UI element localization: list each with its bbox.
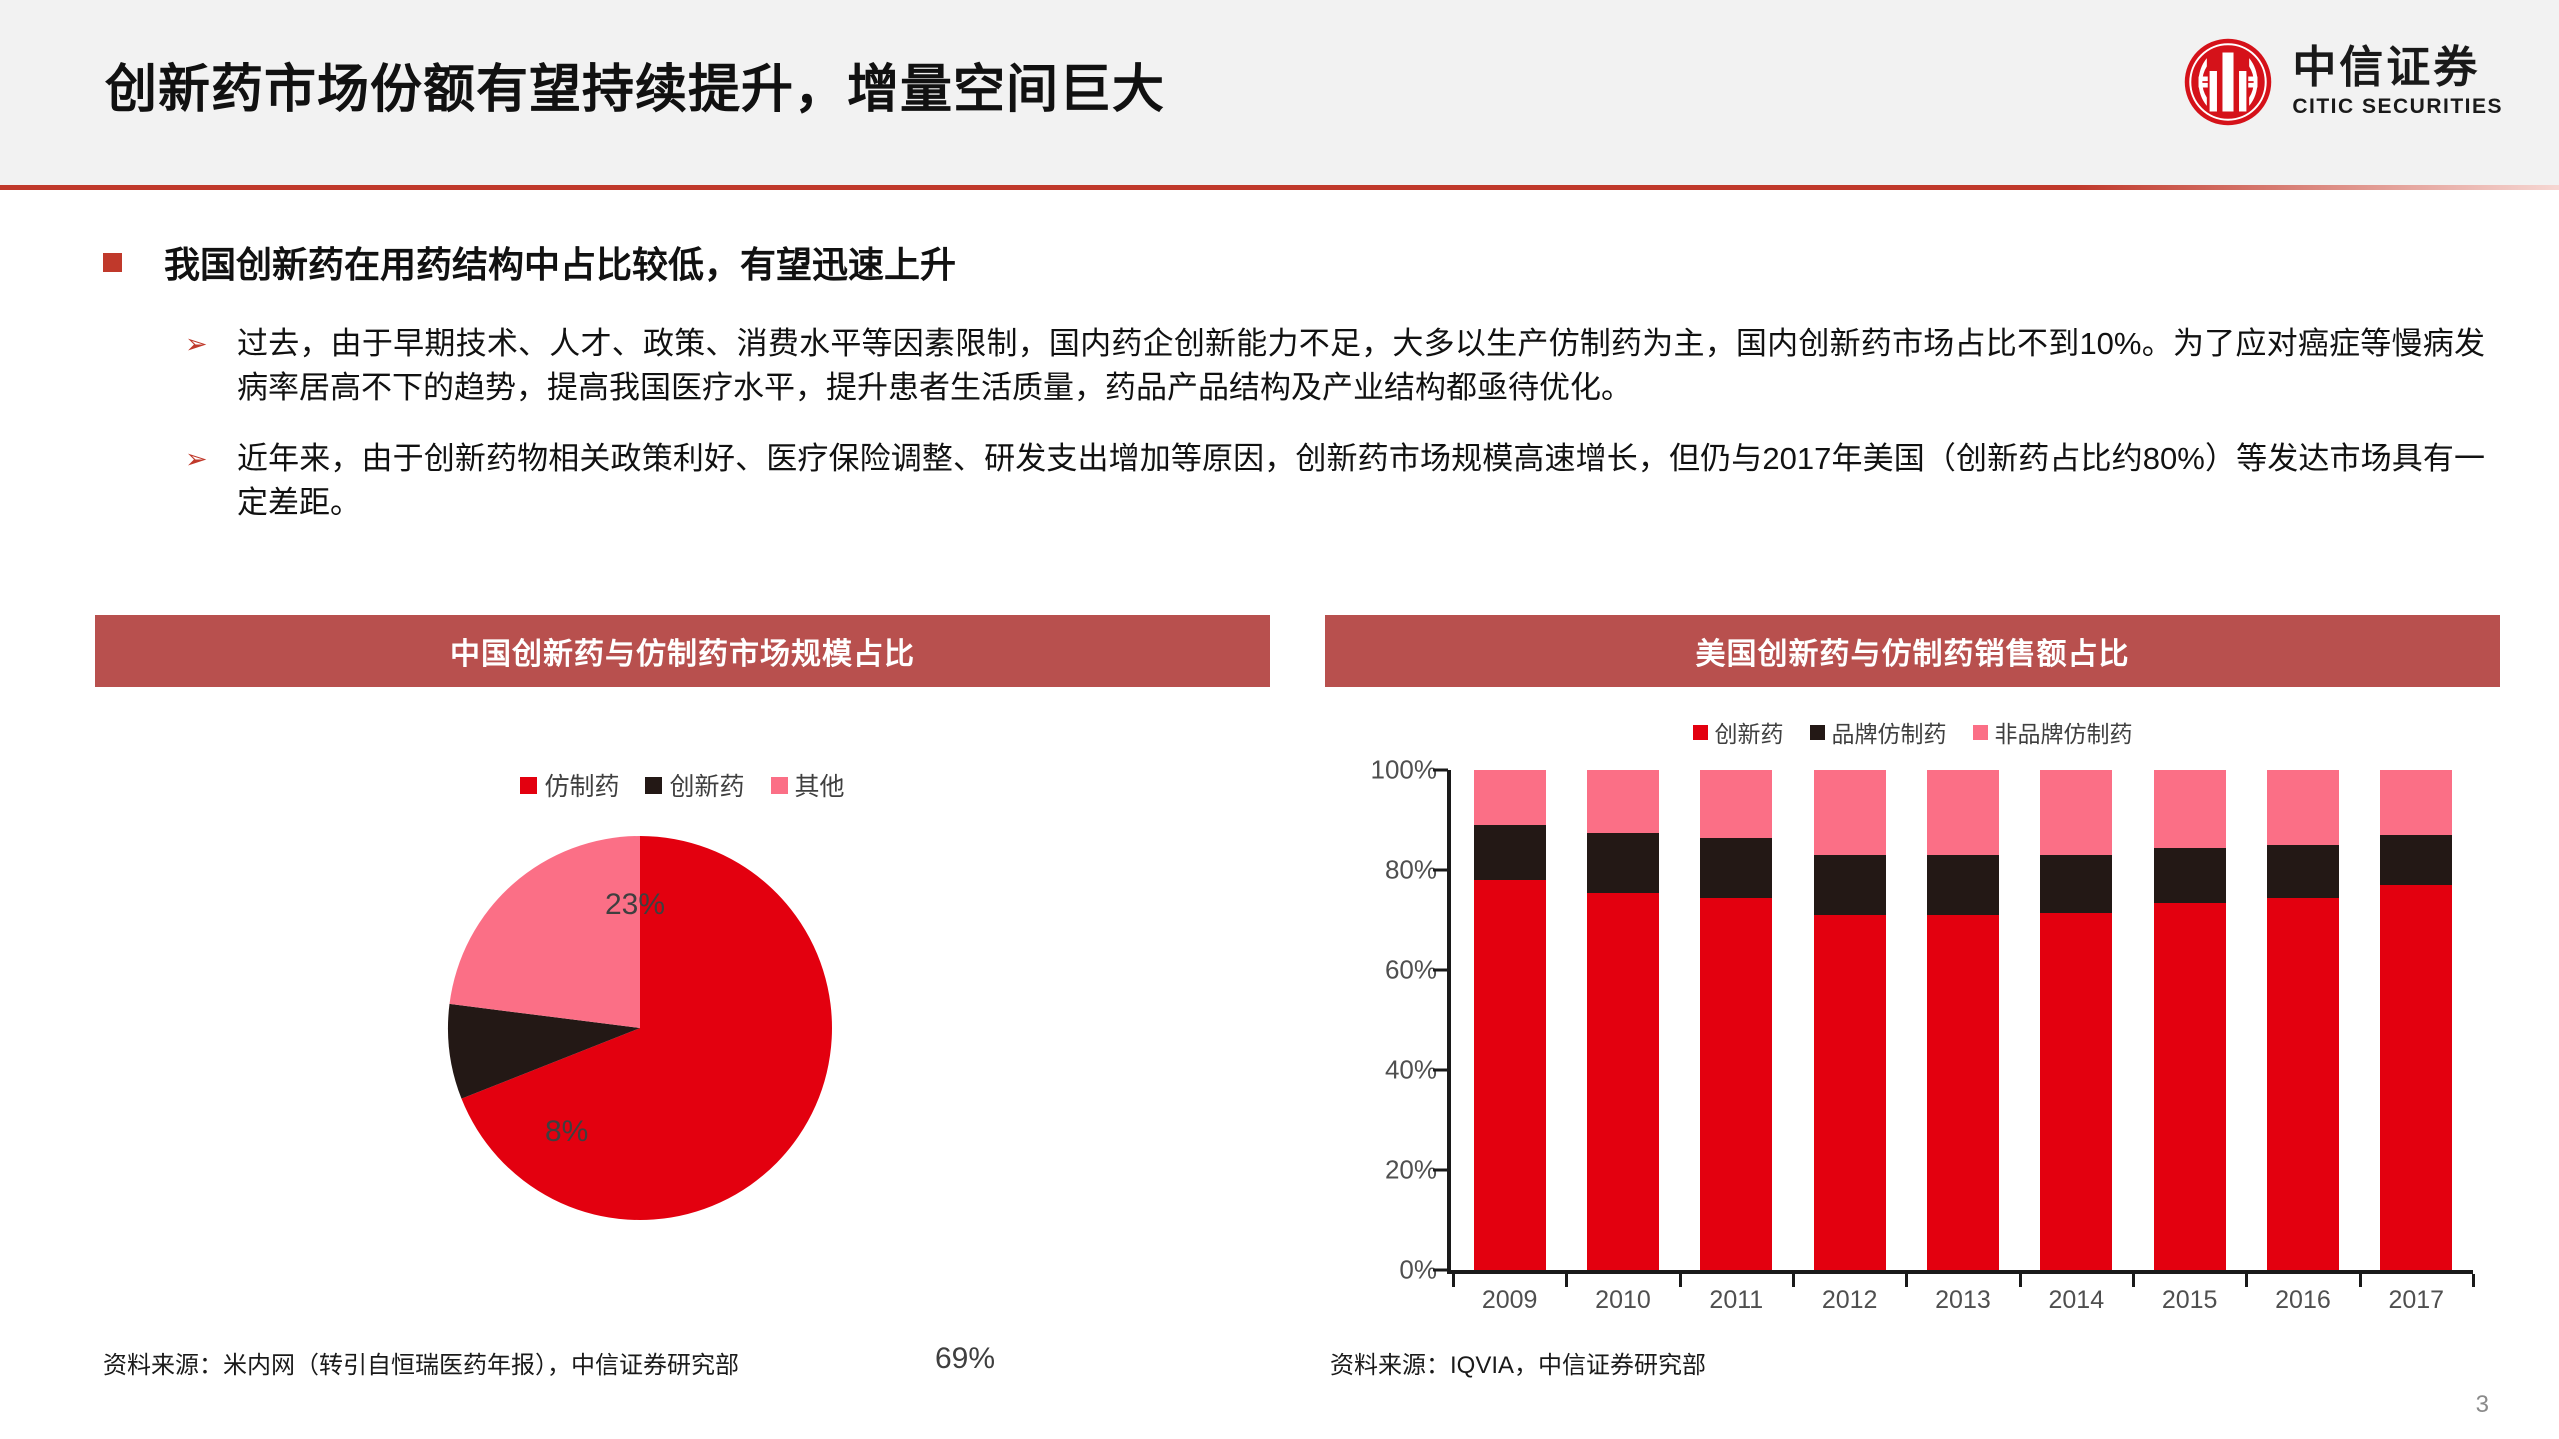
pie-legend-item[interactable]: 其他 xyxy=(771,767,845,803)
bar-segment-创新药[interactable] xyxy=(2154,903,2226,1271)
left-chart-source: 资料来源：米内网（转引自恒瑞医药年报），中信证券研究部 xyxy=(103,1345,739,1380)
bar-chart-plot xyxy=(1453,770,2473,1270)
bar-segment-非品牌仿制药[interactable] xyxy=(2267,770,2339,845)
y-axis-tick-label: 0% xyxy=(1399,1255,1437,1286)
page-number: 3 xyxy=(2476,1391,2489,1419)
legend-color-swatch-icon xyxy=(1693,725,1708,740)
bar-column-2016[interactable] xyxy=(2267,770,2339,1270)
pie-value-label-other: 23% xyxy=(605,888,665,922)
legend-color-swatch-icon xyxy=(771,777,788,794)
bar-segment-创新药[interactable] xyxy=(1587,893,1659,1271)
logo-chinese-name: 中信证券 xyxy=(2292,45,2480,91)
sub-bullet-2: ➢ 近年来，由于创新药物相关政策利好、医疗保险调整、研发支出增加等原因，创新药市… xyxy=(185,437,2485,525)
bar-column-2013[interactable] xyxy=(1927,770,1999,1270)
bar-column-2015[interactable] xyxy=(2154,770,2226,1270)
y-axis-tick-label: 80% xyxy=(1385,855,1437,886)
sub-bullet-1-text: 过去，由于早期技术、人才、政策、消费水平等因素限制，国内药企创新能力不足，大多以… xyxy=(237,322,2485,410)
bar-segment-非品牌仿制药[interactable] xyxy=(2154,770,2226,848)
x-axis-tick-label: 2015 xyxy=(2154,1286,2226,1315)
pie-slice-其他[interactable] xyxy=(450,836,640,1028)
bar-column-2017[interactable] xyxy=(2380,770,2452,1270)
legend-color-swatch-icon xyxy=(520,777,537,794)
y-axis-tick-label: 20% xyxy=(1385,1155,1437,1186)
pie-value-label-generic: 69% xyxy=(935,1342,995,1376)
pie-chart-area: 23% 8% 69% xyxy=(95,810,1270,1330)
y-axis-tick-mark xyxy=(1433,869,1448,872)
y-axis-tick-label: 60% xyxy=(1385,955,1437,986)
bar-segment-品牌仿制药[interactable] xyxy=(1927,855,1999,915)
bar-segment-非品牌仿制药[interactable] xyxy=(2380,770,2452,835)
bar-segment-品牌仿制药[interactable] xyxy=(1474,825,1546,880)
right-chart-title: 美国创新药与仿制药销售额占比 xyxy=(1325,615,2500,687)
bar-segment-创新药[interactable] xyxy=(2380,885,2452,1270)
slide: 创新药市场份额有望持续提升，增量空间巨大 中信证券 CITIC SECURITI… xyxy=(0,0,2559,1439)
bar-segment-创新药[interactable] xyxy=(1814,915,1886,1270)
bar-segment-非品牌仿制药[interactable] xyxy=(1700,770,1772,838)
x-axis-tick-label: 2017 xyxy=(2380,1286,2452,1315)
square-bullet-icon xyxy=(103,253,122,272)
bar-segment-创新药[interactable] xyxy=(2267,898,2339,1271)
bar-column-2014[interactable] xyxy=(2040,770,2112,1270)
bar-chart-legend: 创新药品牌仿制药非品牌仿制药 xyxy=(1325,715,2500,749)
y-axis-tick-mark xyxy=(1433,1169,1448,1172)
bar-segment-品牌仿制药[interactable] xyxy=(2380,835,2452,885)
y-axis-tick-label: 40% xyxy=(1385,1055,1437,1086)
bar-column-2010[interactable] xyxy=(1587,770,1659,1270)
y-axis-tick-mark xyxy=(1433,1069,1448,1072)
x-axis-tick-label: 2009 xyxy=(1474,1286,1546,1315)
bar-segment-品牌仿制药[interactable] xyxy=(1700,838,1772,898)
right-chart-source: 资料来源：IQVIA，中信证券研究部 xyxy=(1330,1345,1706,1380)
logo-english-name: CITIC SECURITIES xyxy=(2292,95,2503,119)
y-axis-tick-mark xyxy=(1433,769,1448,772)
bar-segment-创新药[interactable] xyxy=(1927,915,1999,1270)
arrow-bullet-icon: ➢ xyxy=(185,446,211,525)
legend-color-swatch-icon xyxy=(645,777,662,794)
bar-chart-x-axis-labels: 200920102011201220132014201520162017 xyxy=(1453,1286,2473,1315)
bar-segment-非品牌仿制药[interactable] xyxy=(1814,770,1886,855)
x-axis-tick-label: 2016 xyxy=(2267,1286,2339,1315)
bar-segment-品牌仿制药[interactable] xyxy=(1814,855,1886,915)
legend-color-swatch-icon xyxy=(1973,725,1988,740)
slide-header: 创新药市场份额有望持续提升，增量空间巨大 中信证券 CITIC SECURITI… xyxy=(0,0,2559,185)
bar-segment-品牌仿制药[interactable] xyxy=(2040,855,2112,913)
x-axis-tick-label: 2014 xyxy=(2040,1286,2112,1315)
bar-segment-非品牌仿制药[interactable] xyxy=(1927,770,1999,855)
left-chart-panel: 中国创新药与仿制药市场规模占比 仿制药创新药其他 23% 8% 69% xyxy=(95,615,1270,687)
x-axis-line xyxy=(1447,1270,2473,1274)
sub-bullet-2-text: 近年来，由于创新药物相关政策利好、医疗保险调整、研发支出增加等原因，创新药市场规… xyxy=(237,437,2485,525)
sub-bullet-1: ➢ 过去，由于早期技术、人才、政策、消费水平等因素限制，国内药企创新能力不足，大… xyxy=(185,322,2485,410)
bar-legend-item[interactable]: 创新药 xyxy=(1693,715,1784,749)
bar-column-2011[interactable] xyxy=(1700,770,1772,1270)
bar-segment-品牌仿制药[interactable] xyxy=(2154,848,2226,903)
bar-segment-品牌仿制药[interactable] xyxy=(2267,845,2339,898)
y-axis-line xyxy=(1447,770,1451,1270)
legend-label: 非品牌仿制药 xyxy=(1995,715,2133,749)
bar-chart-area: 0%20%40%60%80%100% 200920102011201220132… xyxy=(1325,770,2500,1430)
bar-segment-品牌仿制药[interactable] xyxy=(1587,833,1659,893)
legend-label: 品牌仿制药 xyxy=(1832,715,1947,749)
main-bullet-text: 我国创新药在用药结构中占比较低，有望迅速上升 xyxy=(164,236,956,288)
legend-color-swatch-icon xyxy=(1810,725,1825,740)
header-divider-fade xyxy=(2075,185,2559,190)
left-chart-title: 中国创新药与仿制药市场规模占比 xyxy=(95,615,1270,687)
right-chart-panel: 美国创新药与仿制药销售额占比 创新药品牌仿制药非品牌仿制药 0%20%40%60… xyxy=(1325,615,2500,687)
x-axis-tick-label: 2013 xyxy=(1927,1286,1999,1315)
x-axis-tick-label: 2011 xyxy=(1700,1286,1772,1315)
main-bullet: 我国创新药在用药结构中占比较低，有望迅速上升 xyxy=(103,236,956,288)
citic-securities-logo: 中信证券 CITIC SECURITIES xyxy=(2182,36,2503,128)
bar-segment-非品牌仿制药[interactable] xyxy=(1474,770,1546,825)
page-title: 创新药市场份额有望持续提升，增量空间巨大 xyxy=(105,47,1165,122)
bar-legend-item[interactable]: 非品牌仿制药 xyxy=(1973,715,2133,749)
legend-label: 仿制药 xyxy=(544,767,619,803)
legend-label: 创新药 xyxy=(1715,715,1784,749)
bar-series-container xyxy=(1453,770,2473,1270)
y-axis-tick-mark xyxy=(1433,1269,1448,1272)
bar-segment-创新药[interactable] xyxy=(1474,880,1546,1270)
y-axis-tick-mark xyxy=(1433,969,1448,972)
arrow-bullet-icon: ➢ xyxy=(185,331,211,410)
x-axis-tick-label: 2010 xyxy=(1587,1286,1659,1315)
logo-wordmark: 中信证券 CITIC SECURITIES xyxy=(2292,45,2503,118)
pie-legend-item[interactable]: 创新药 xyxy=(645,767,744,803)
x-axis-tick-label: 2012 xyxy=(1814,1286,1886,1315)
bar-segment-创新药[interactable] xyxy=(2040,913,2112,1271)
bar-column-2009[interactable] xyxy=(1474,770,1546,1270)
pie-chart-legend: 仿制药创新药其他 xyxy=(95,767,1270,803)
legend-label: 创新药 xyxy=(669,767,744,803)
citic-circle-logo-icon xyxy=(2182,36,2274,128)
y-axis-tick-label: 100% xyxy=(1371,755,1438,786)
pie-value-label-innovative: 8% xyxy=(545,1115,588,1149)
bar-column-2012[interactable] xyxy=(1814,770,1886,1270)
bar-chart-y-axis-labels: 0%20%40%60%80%100% xyxy=(1345,770,1437,1270)
bar-segment-非品牌仿制药[interactable] xyxy=(2040,770,2112,855)
bar-segment-非品牌仿制药[interactable] xyxy=(1587,770,1659,833)
bar-legend-item[interactable]: 品牌仿制药 xyxy=(1810,715,1947,749)
pie-legend-item[interactable]: 仿制药 xyxy=(520,767,619,803)
legend-label: 其他 xyxy=(795,767,845,803)
bar-segment-创新药[interactable] xyxy=(1700,898,1772,1271)
